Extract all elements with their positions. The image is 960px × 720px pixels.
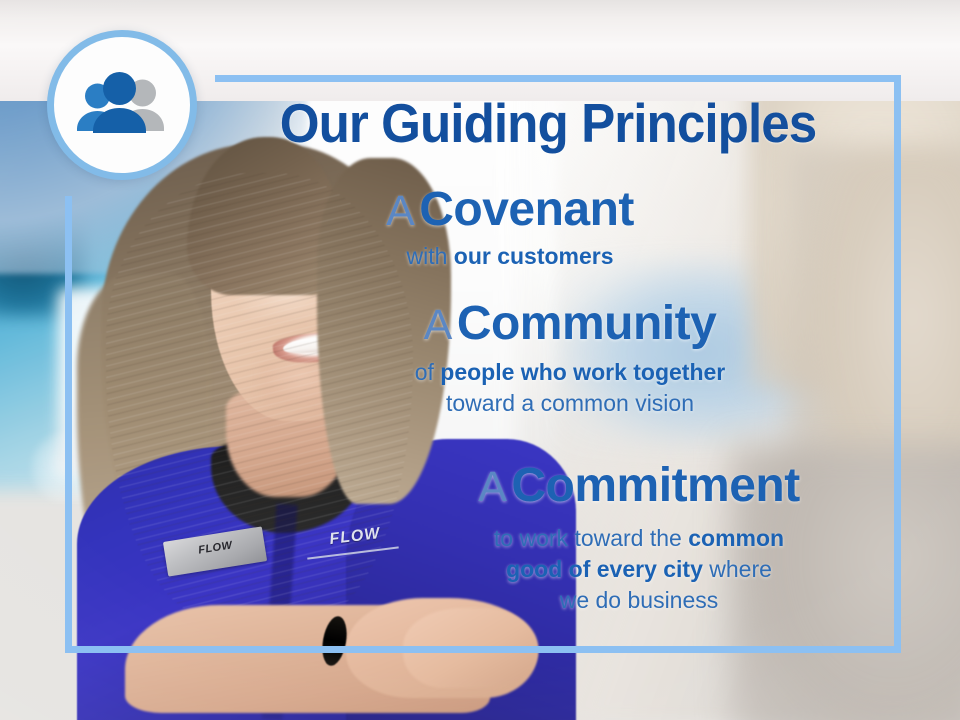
people-group-icon [71,69,173,141]
principle-community-heading: A Community [330,300,810,349]
principle-community: A Community of people who work togethert… [330,300,810,419]
principle-commitment-heading: A Commitment [400,462,878,511]
principle-commitment-article: A [478,463,507,511]
page-title: Our Guiding Principles [241,96,855,151]
principle-covenant-subtext: with our customers [300,241,720,272]
principle-community-article: A [424,301,453,349]
people-group-icon-badge [47,30,197,180]
principle-covenant-word: Covenant [419,183,634,236]
guiding-principles-graphic: FLOW FLOW Our Guiding Princ [0,0,960,720]
principle-community-word: Community [457,297,717,350]
principle-commitment-word: Commitment [511,459,799,512]
principle-covenant-heading: A Covenant [300,186,720,235]
principle-covenant: A Covenant with our customers [300,186,720,272]
principle-community-subtext: of people who work togethertoward a comm… [330,357,810,419]
principle-commitment: A Commitment to work toward the commongo… [400,462,878,615]
subject-hand-right [403,608,537,687]
principle-commitment-subtext: to work toward the commongood of every c… [400,523,878,615]
principle-covenant-article: A [386,187,415,235]
